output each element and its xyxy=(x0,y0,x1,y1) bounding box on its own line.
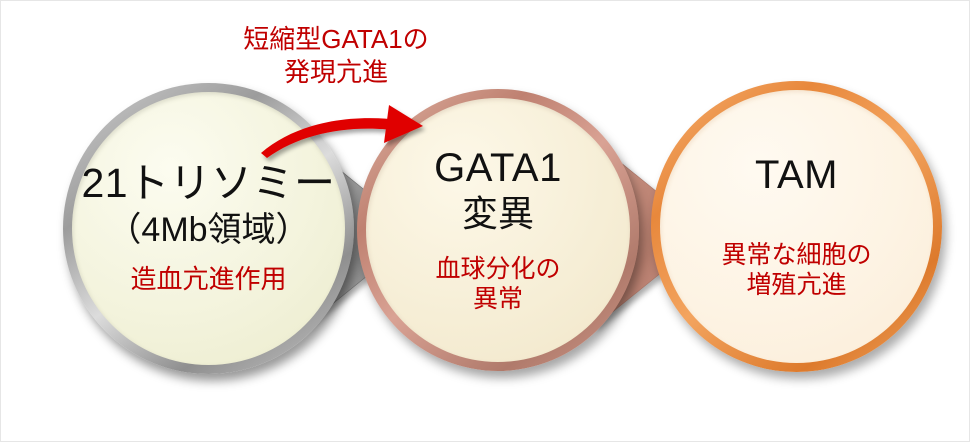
caption-line-1: 短縮型GATA1の xyxy=(211,23,461,56)
connector-red-curved-arrow xyxy=(241,96,441,176)
caption-gata1-overexpression: 短縮型GATA1の 発現亢進 xyxy=(211,23,461,90)
caption-line-2: 発現亢進 xyxy=(211,56,461,89)
diagram-canvas: 21トリソミー （4Mb領域） 造血亢進作用 GATA1 変異 血球分化の 異常… xyxy=(0,0,970,442)
node-tam[interactable] xyxy=(660,90,933,363)
red-curved-arrow-icon xyxy=(241,96,441,176)
